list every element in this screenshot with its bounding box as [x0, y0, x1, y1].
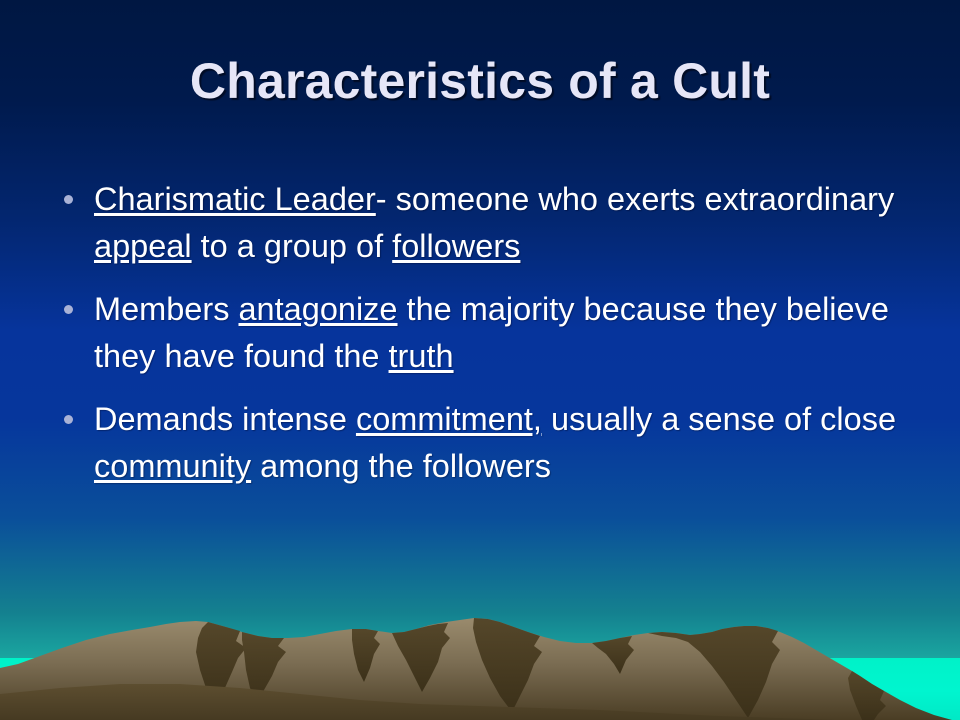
mountain-shadow-facets	[196, 618, 886, 720]
mountain-foreground-band	[0, 684, 840, 720]
body-text-run: among the followers	[251, 448, 551, 484]
page-title: Characteristics of a Cult	[190, 52, 770, 110]
body-text-run: Members	[94, 291, 238, 327]
emphasized-term: antagonize	[238, 291, 397, 327]
emphasized-term: community	[94, 448, 251, 484]
slide-body-block: Charismatic Leader- someone who exerts e…	[52, 176, 908, 490]
bullet-dot-icon	[64, 415, 73, 424]
body-text-run: Demands intense	[94, 401, 356, 437]
emphasized-term: truth	[389, 338, 454, 374]
emphasized-term: Charismatic Leader	[94, 181, 376, 217]
bullet-item-intense-commitment: Demands intense commitment, usually a se…	[52, 396, 908, 490]
bullet-dot-icon	[64, 305, 73, 314]
presentation-slide: Characteristics of a Cult Charismatic Le…	[0, 0, 960, 720]
body-text-run: to a group of	[192, 228, 393, 264]
body-text-run: usually a sense of close	[542, 401, 896, 437]
bullet-item-charismatic-leader: Charismatic Leader- someone who exerts e…	[52, 176, 908, 270]
bullet-item-antagonize-majority: Members antagonize the majority because …	[52, 286, 908, 380]
slide-title-block: Characteristics of a Cult	[0, 52, 960, 110]
bullet-text: Charismatic Leader- someone who exerts e…	[94, 176, 908, 270]
emphasized-term: followers	[392, 228, 520, 264]
emphasized-term: commitment,	[356, 401, 542, 437]
bullet-text: Members antagonize the majority because …	[94, 286, 908, 380]
emphasized-term: appeal	[94, 228, 192, 264]
mountain-ridge-light	[0, 618, 952, 720]
bullet-dot-icon	[64, 195, 73, 204]
body-text-run: - someone who exerts extraordinary	[376, 181, 894, 217]
bullet-text: Demands intense commitment, usually a se…	[94, 396, 908, 490]
